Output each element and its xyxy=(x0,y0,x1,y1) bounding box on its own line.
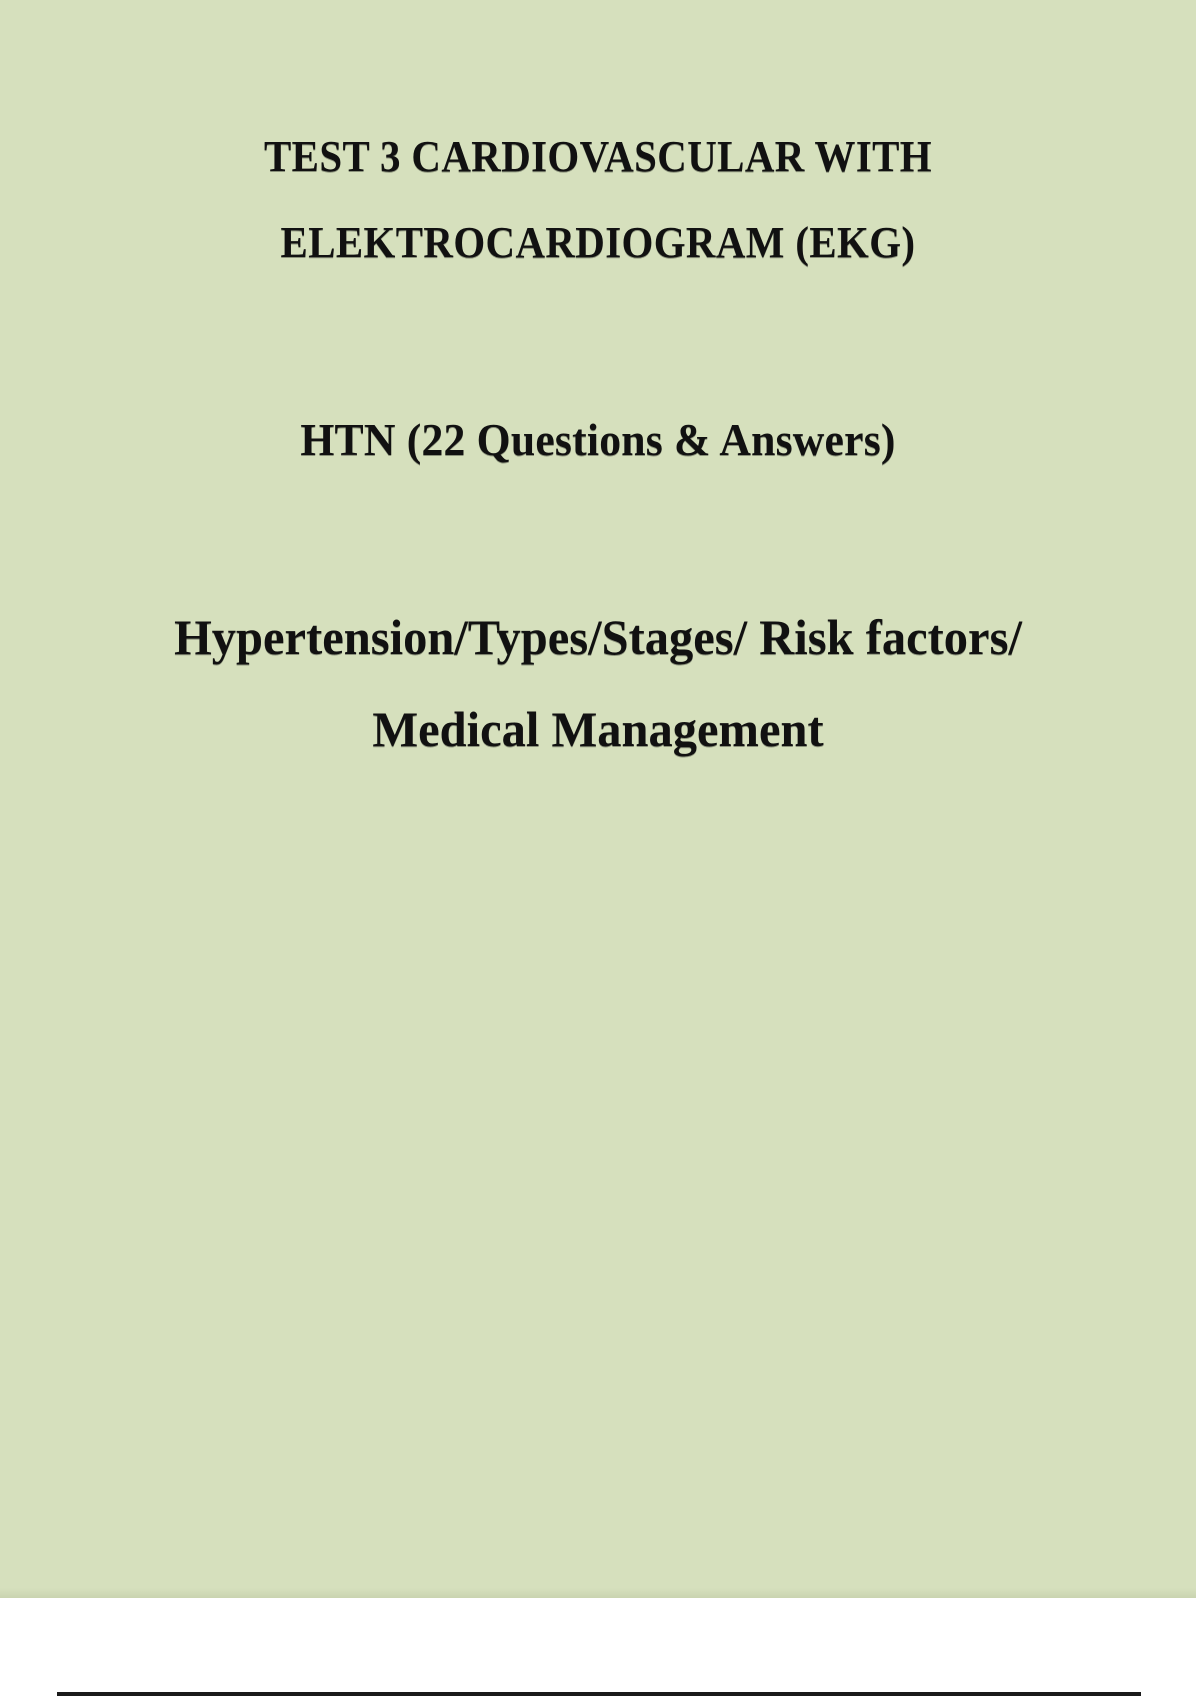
document-page: TEST 3 CARDIOVASCULAR WITH ELEKTROCARDIO… xyxy=(0,0,1196,1598)
topics-line-1: Hypertension/Types/Stages/ Risk factors/ xyxy=(18,608,1178,666)
page-title-line-2: ELEKTROCARDIOGRAM (EKG) xyxy=(42,217,1154,268)
topics-line-2: Medical Management xyxy=(18,700,1178,758)
page-title-line-1: TEST 3 CARDIOVASCULAR WITH xyxy=(42,131,1154,182)
subtitle-questions-count: HTN (22 Questions & Answers) xyxy=(30,413,1166,466)
page-divider-rule xyxy=(57,1692,1141,1696)
